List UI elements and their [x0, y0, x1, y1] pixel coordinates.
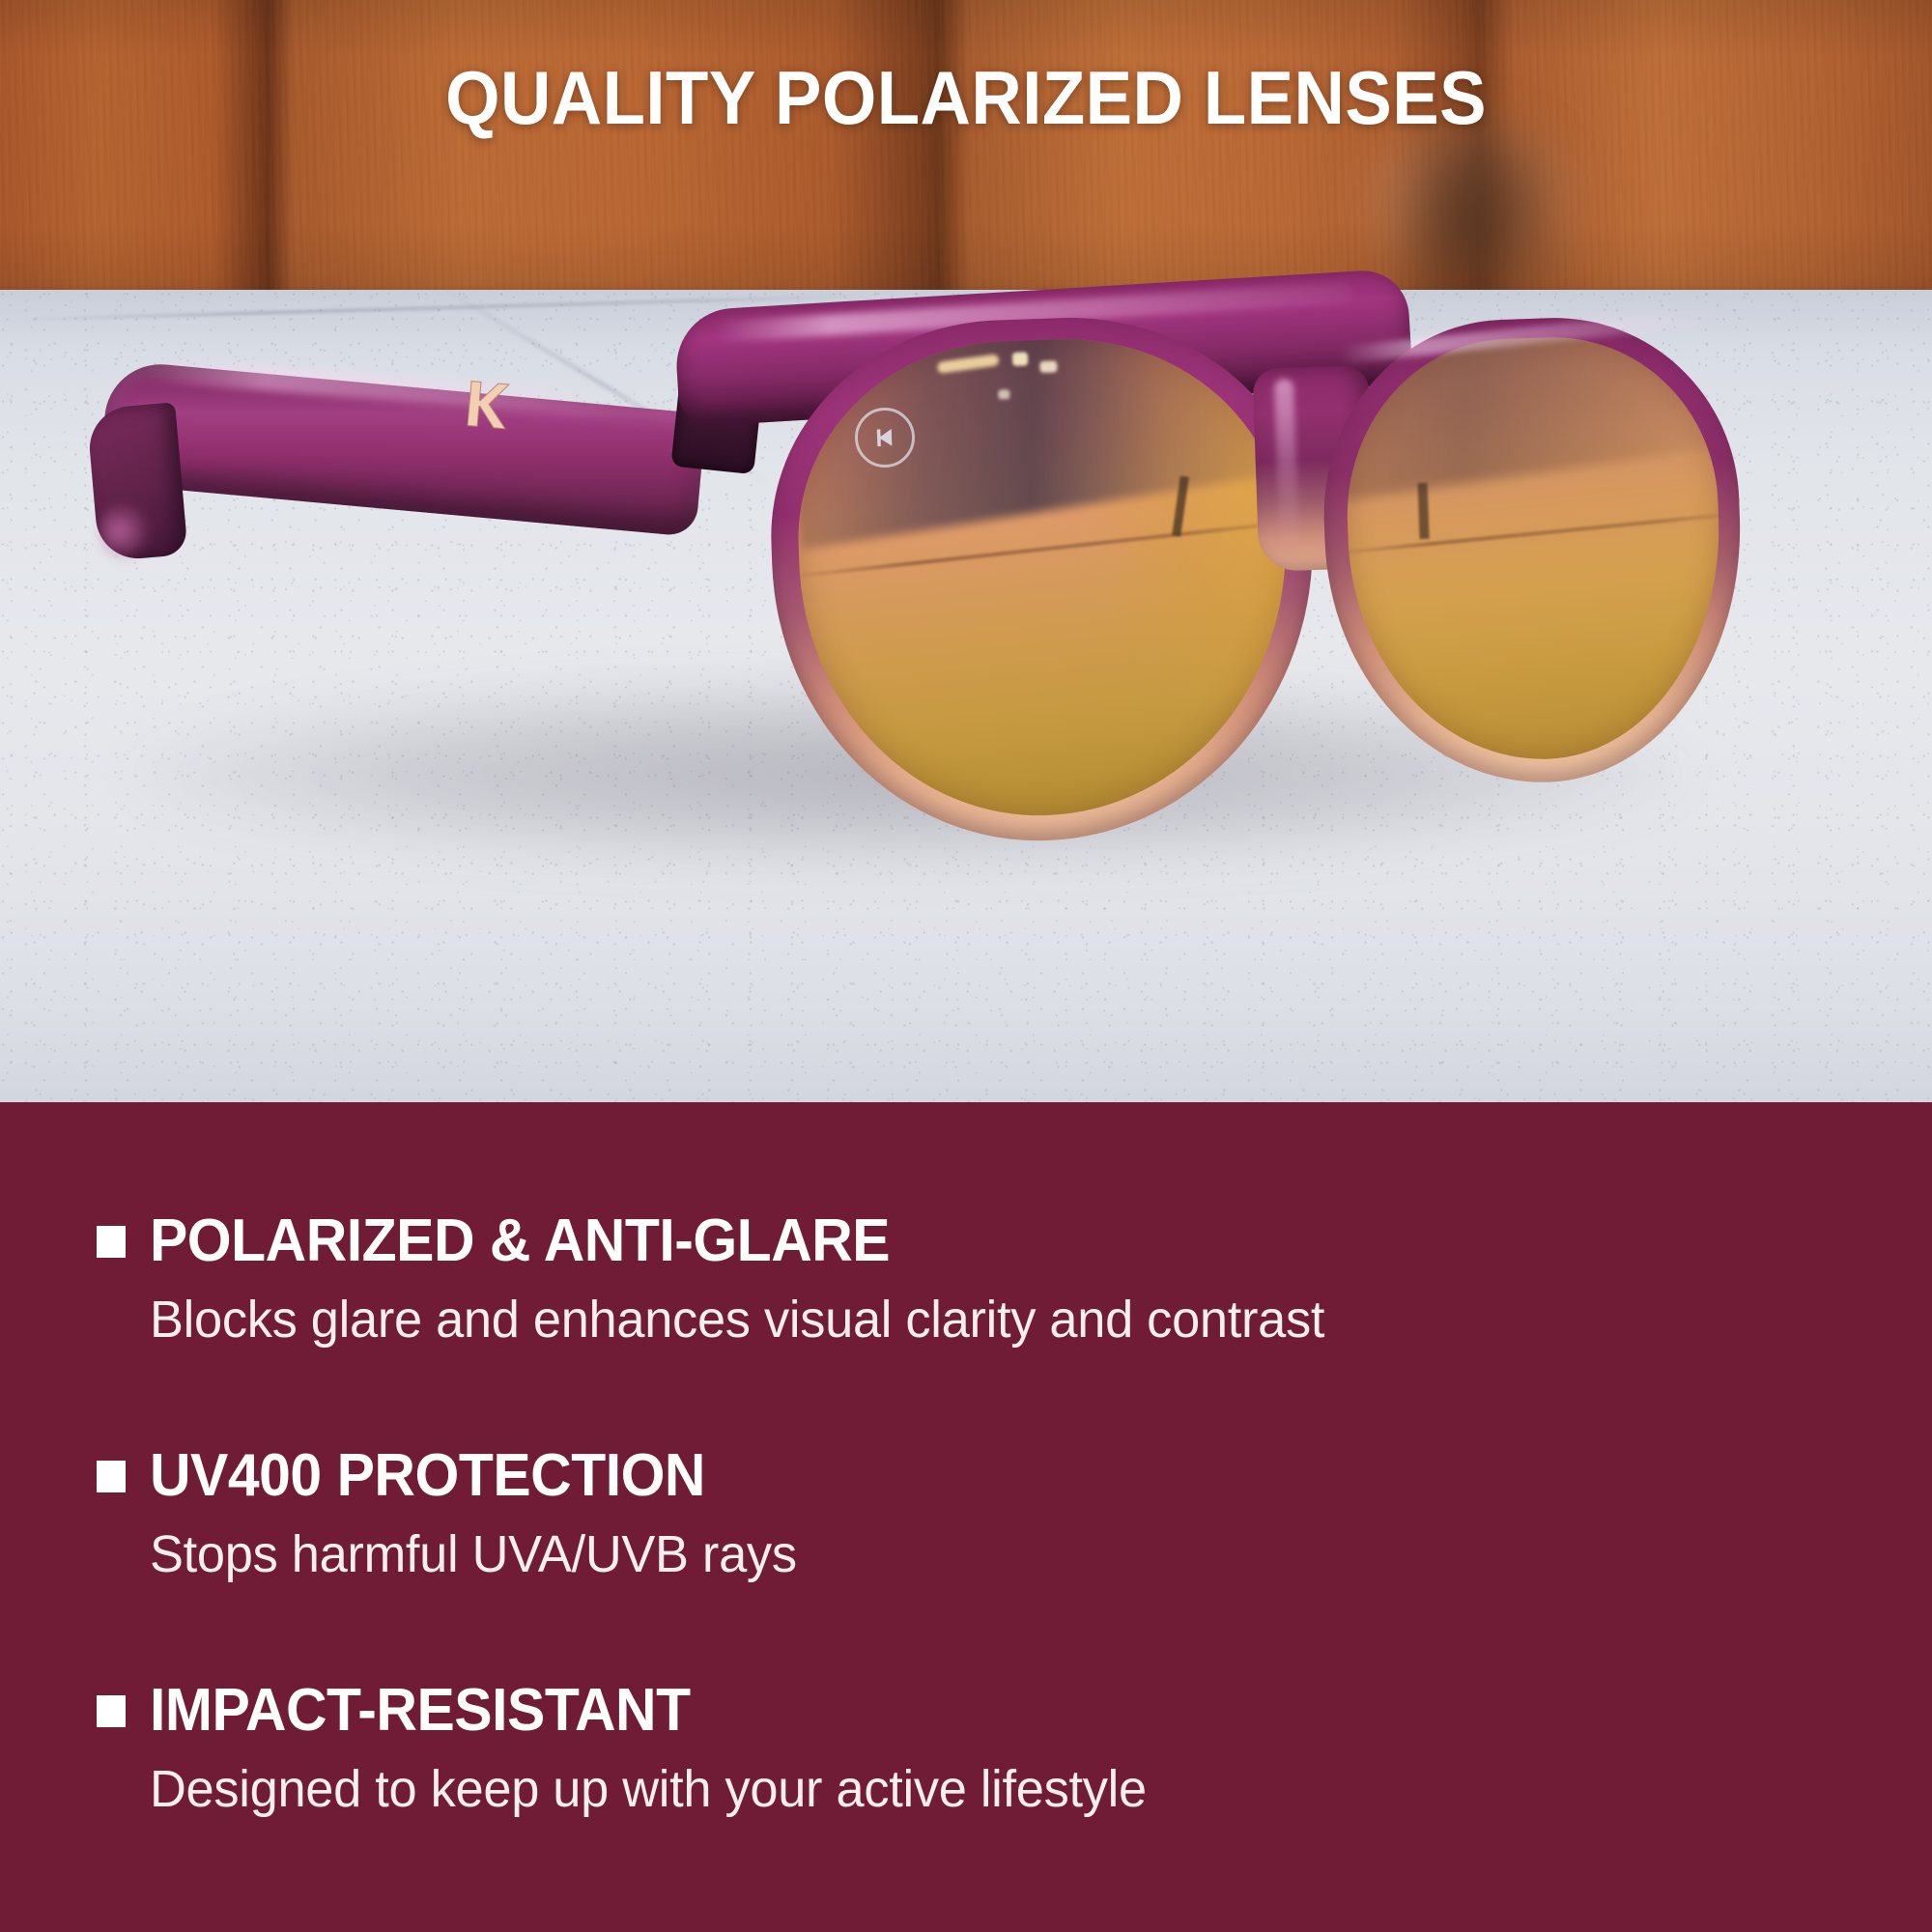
- feature-item-uv400: UV400 PROTECTION Stops harmful UVA/UVB r…: [97, 1446, 1835, 1582]
- product-feature-poster: QUALITY POLARIZED LENSES POLARIZED & ANT…: [0, 0, 1932, 1932]
- feature-title: UV400 PROTECTION: [150, 1446, 705, 1506]
- brand-k-logo-icon: [462, 378, 510, 432]
- lens-horizon-reflection: [1342, 510, 1727, 555]
- page-title: QUALITY POLARIZED LENSES: [68, 60, 1864, 135]
- lens-specular-highlight: [998, 389, 1009, 399]
- square-bullet-icon: [97, 1695, 126, 1727]
- feature-panel: POLARIZED & ANTI-GLARE Blocks glare and …: [0, 1102, 1932, 1932]
- sunglasses-product: [0, 0, 1932, 1102]
- feature-description: Blocks glare and enhances visual clarity…: [150, 1293, 1785, 1348]
- feature-title: IMPACT-RESISTANT: [150, 1681, 691, 1741]
- square-bullet-icon: [97, 1461, 126, 1492]
- lens-specular-highlight: [1012, 352, 1028, 366]
- feature-heading-row: POLARIZED & ANTI-GLARE: [97, 1211, 1835, 1271]
- feature-title: POLARIZED & ANTI-GLARE: [150, 1211, 890, 1271]
- temple-tip-glow: [99, 502, 150, 560]
- square-bullet-icon: [97, 1226, 126, 1258]
- feature-heading-row: IMPACT-RESISTANT: [97, 1681, 1835, 1741]
- feature-item-polarized: POLARIZED & ANTI-GLARE Blocks glare and …: [97, 1211, 1835, 1348]
- product-hero-photo: QUALITY POLARIZED LENSES: [0, 0, 1932, 1102]
- feature-heading-row: UV400 PROTECTION: [97, 1446, 1835, 1506]
- lens-specular-highlight: [1039, 360, 1057, 373]
- lens-post-reflection: [1418, 483, 1430, 539]
- feature-item-impact-resistant: IMPACT-RESISTANT Designed to keep up wit…: [97, 1681, 1835, 1817]
- feature-list: POLARIZED & ANTI-GLARE Blocks glare and …: [97, 1211, 1835, 1818]
- feature-description: Designed to keep up with your active lif…: [150, 1762, 1785, 1817]
- feature-description: Stops harmful UVA/UVB rays: [150, 1527, 1785, 1582]
